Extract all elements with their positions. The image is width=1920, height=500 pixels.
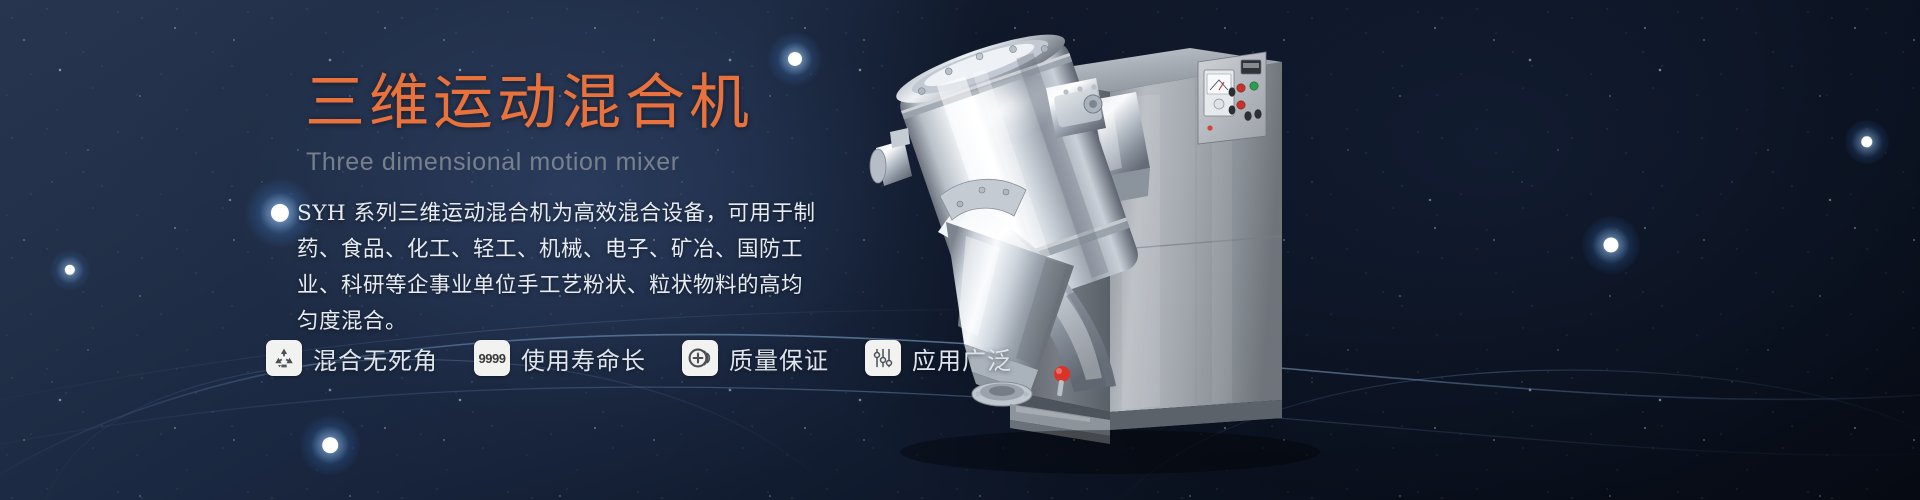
machine-cabinet (1015, 48, 1282, 430)
sliders-icon (865, 340, 901, 376)
control-panel-box (1198, 52, 1266, 144)
feature-item-lifespan[interactable]: 9999 使用寿命长 (474, 340, 646, 376)
glow-star (1060, 160, 1106, 206)
feature-label: 应用广泛 (912, 341, 1012, 376)
page-subtitle: Three dimensional motion mixer (306, 148, 680, 177)
discharge-cone (946, 222, 1074, 406)
drive-shaft-housing (1046, 78, 1106, 138)
banner-text-content: 三维运动混合机 Three dimensional motion mixer S… (0, 0, 900, 500)
mixing-drum (890, 22, 1142, 323)
quality-coin-icon (682, 340, 718, 376)
feature-label: 质量保证 (729, 341, 829, 376)
pivot-support (1092, 92, 1150, 204)
feature-highlights-row: 混合无死角 9999 使用寿命长 质量保证 (266, 340, 1012, 376)
glow-star (1582, 216, 1640, 274)
feature-item-mixing[interactable]: 混合无死角 (266, 340, 438, 376)
feature-label: 使用寿命长 (521, 341, 646, 376)
support-rail (1010, 404, 1110, 444)
product-description: SYH 系列三维运动混合机为高效混合设备，可用于制药、食品、化工、轻工、机械、电… (297, 196, 817, 340)
feature-item-application[interactable]: 应用广泛 (865, 340, 1012, 376)
feature-item-quality[interactable]: 质量保证 (682, 340, 829, 376)
recycle-icon (266, 340, 302, 376)
feature-label: 混合无死角 (313, 341, 438, 376)
counter-value: 9999 (479, 351, 506, 366)
lifespan-counter-icon: 9999 (474, 340, 510, 376)
control-panel (1190, 52, 1194, 56)
three-dimensional-motion-mixer-photo (860, 0, 1920, 500)
product-hero-banner: 三维运动混合机 Three dimensional motion mixer S… (0, 0, 1920, 500)
glow-star (1845, 120, 1889, 164)
page-title: 三维运动混合机 (305, 72, 753, 135)
